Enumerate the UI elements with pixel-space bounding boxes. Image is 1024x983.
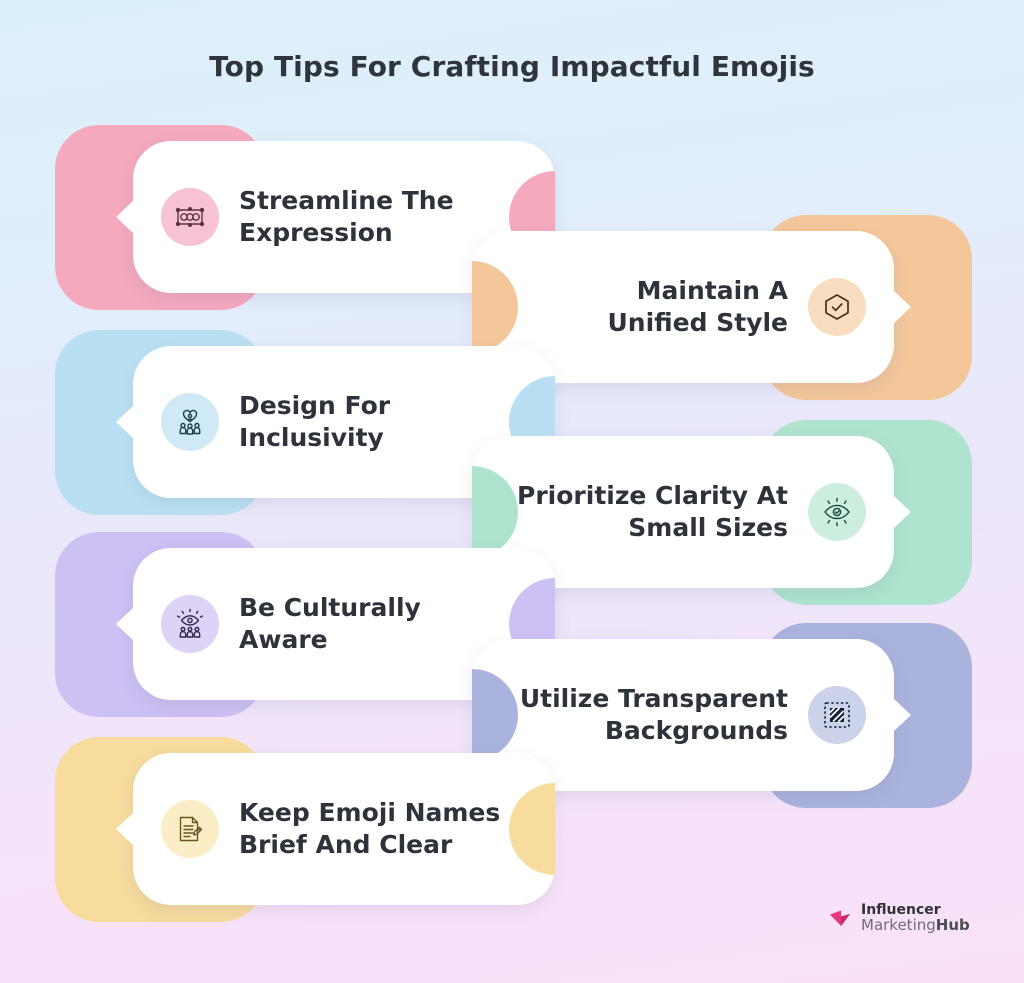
card-label-line2: Backgrounds (520, 715, 788, 747)
card-notch (893, 495, 911, 529)
card-label-line1: Utilize Transparent (520, 683, 788, 715)
card-label: Keep Emoji Names Brief And Clear (239, 797, 500, 861)
transparency-grid-icon (808, 686, 866, 744)
card-be-culturally-aware[interactable]: Be Culturally Aware (55, 532, 515, 717)
card-label-line2: Inclusivity (239, 422, 390, 454)
card-label-line2: Expression (239, 217, 454, 249)
card-keep-emoji-names-brief-and-clear[interactable]: Keep Emoji Names Brief And Clear (55, 737, 515, 922)
card-label: Design For Inclusivity (239, 390, 390, 454)
card-notch (116, 607, 134, 641)
card-notch (116, 812, 134, 846)
card-label: Streamline The Expression (239, 185, 454, 249)
card-streamline-the-expression[interactable]: Streamline The Expression (55, 125, 515, 310)
card-label-line1: Design For (239, 390, 390, 422)
eye-people-icon (161, 595, 219, 653)
logo-hub-text: Hub (936, 916, 970, 934)
document-pen-icon (161, 800, 219, 858)
heart-people-icon (161, 393, 219, 451)
page-title: Top Tips For Crafting Impactful Emojis (0, 50, 1024, 83)
card-label-line1: Be Culturally (239, 592, 421, 624)
emoji-frame-icon (161, 188, 219, 246)
card-label: Prioritize Clarity At Small Sizes (517, 480, 788, 544)
card-panel: Keep Emoji Names Brief And Clear (133, 753, 555, 905)
card-label-line1: Keep Emoji Names (239, 797, 500, 829)
infographic-canvas: Top Tips For Crafting Impactful Emojis (0, 0, 1024, 983)
card-notch (116, 405, 134, 439)
card-notch (893, 290, 911, 324)
card-label-line2: Brief And Clear (239, 829, 500, 861)
card-design-for-inclusivity[interactable]: Design For Inclusivity (55, 330, 515, 515)
card-label-line1: Streamline The (239, 185, 454, 217)
card-label: Utilize Transparent Backgrounds (520, 683, 788, 747)
card-notch (893, 698, 911, 732)
card-label: Maintain A Unified Style (607, 275, 788, 339)
card-label-line1: Prioritize Clarity At (517, 480, 788, 512)
logo-line-2: MarketingHub (861, 918, 970, 934)
logo-wordmark: Influencer MarketingHub (861, 903, 970, 933)
card-label: Be Culturally Aware (239, 592, 421, 656)
card-label-line1: Maintain A (607, 275, 788, 307)
influencer-marketing-hub-logo[interactable]: Influencer MarketingHub (828, 903, 970, 933)
card-maintain-a-unified-style[interactable]: Maintain A Unified Style (512, 215, 972, 400)
logo-marketing-text: Marketing (861, 916, 936, 934)
card-label-line2: Small Sizes (517, 512, 788, 544)
card-label-line2: Aware (239, 624, 421, 656)
card-utilize-transparent-backgrounds[interactable]: Utilize Transparent Backgrounds (512, 623, 972, 808)
arrow-mark-icon (828, 905, 854, 931)
card-notch (116, 200, 134, 234)
card-label-line2: Unified Style (607, 307, 788, 339)
card-prioritize-clarity-at-small-sizes[interactable]: Prioritize Clarity At Small Sizes (512, 420, 972, 605)
hexagon-check-icon (808, 278, 866, 336)
eye-check-icon (808, 483, 866, 541)
